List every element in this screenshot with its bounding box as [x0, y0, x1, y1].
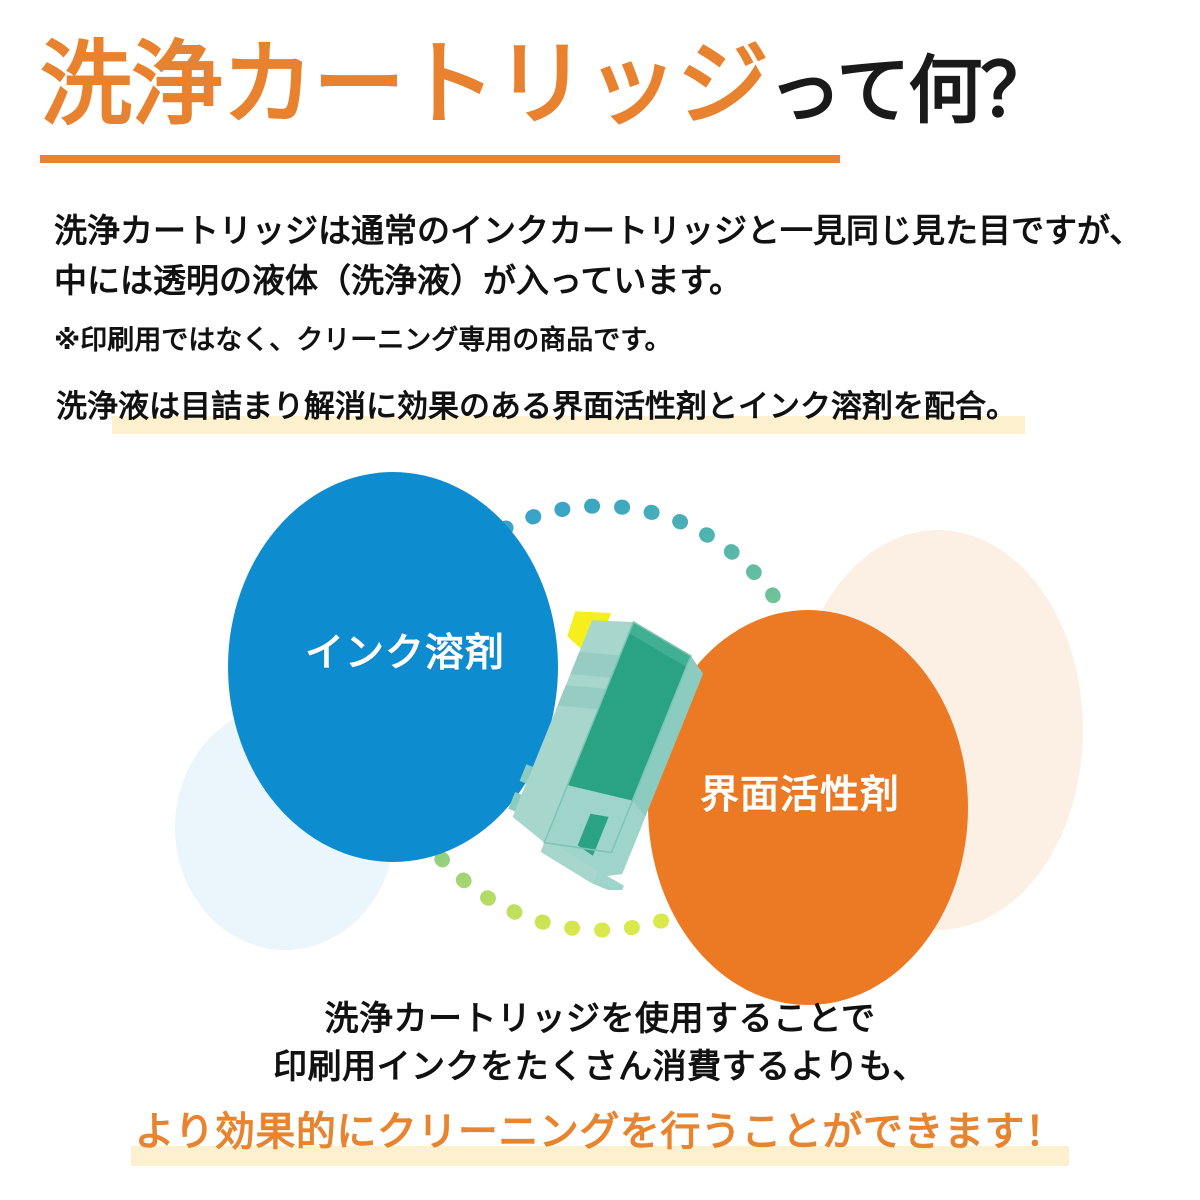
conclusion-text-block: 洗浄カートリッジを使用することで 印刷用インクをたくさん消費するよりも、 より効…: [0, 995, 1200, 1166]
conclusion-emphasis-text: より効果的にクリーニングを行うことができます！: [135, 1110, 1066, 1154]
page-title-highlight: 洗浄カートリッジ: [40, 34, 768, 136]
ink-cartridge-icon: [500, 600, 730, 890]
infographic-page: 洗浄カートリッジって何？ 洗浄カートリッジは通常のインクカートリッジと一見同じ見…: [0, 0, 1200, 1200]
intro-lead-paragraph: 洗浄カートリッジは通常のインクカートリッジと一見同じ見た目ですが、中には透明の液…: [54, 206, 1154, 306]
intro-text-block: 洗浄カートリッジは通常のインクカートリッジと一見同じ見た目ですが、中には透明の液…: [54, 206, 1154, 434]
page-title: 洗浄カートリッジって何？: [40, 36, 1160, 135]
intro-highlighted-paragraph: 洗浄液は目詰まり解消に効果のある界面活性剤とインク溶剤を配合。: [54, 385, 1019, 434]
intro-note-paragraph: ※印刷用ではなく、クリーニング専用の商品です。: [54, 320, 1154, 361]
conclusion-line-2: 印刷用インクをたくさん消費するよりも、: [0, 1043, 1200, 1091]
surfactant-label: 界面活性剤: [700, 764, 900, 820]
ingredients-diagram: インク溶剤 界面活性剤: [0, 450, 1200, 970]
title-underline-rule: [40, 155, 840, 163]
conclusion-line-1: 洗浄カートリッジを使用することで: [0, 995, 1200, 1043]
conclusion-emphasis: より効果的にクリーニングを行うことができます！: [131, 1106, 1070, 1166]
page-title-tail: って何？: [768, 49, 1052, 132]
ink-solvent-label: インク溶剤: [305, 622, 505, 678]
intro-highlighted-text: 洗浄液は目詰まり解消に効果のある界面活性剤とインク溶剤を配合。: [56, 389, 1017, 424]
